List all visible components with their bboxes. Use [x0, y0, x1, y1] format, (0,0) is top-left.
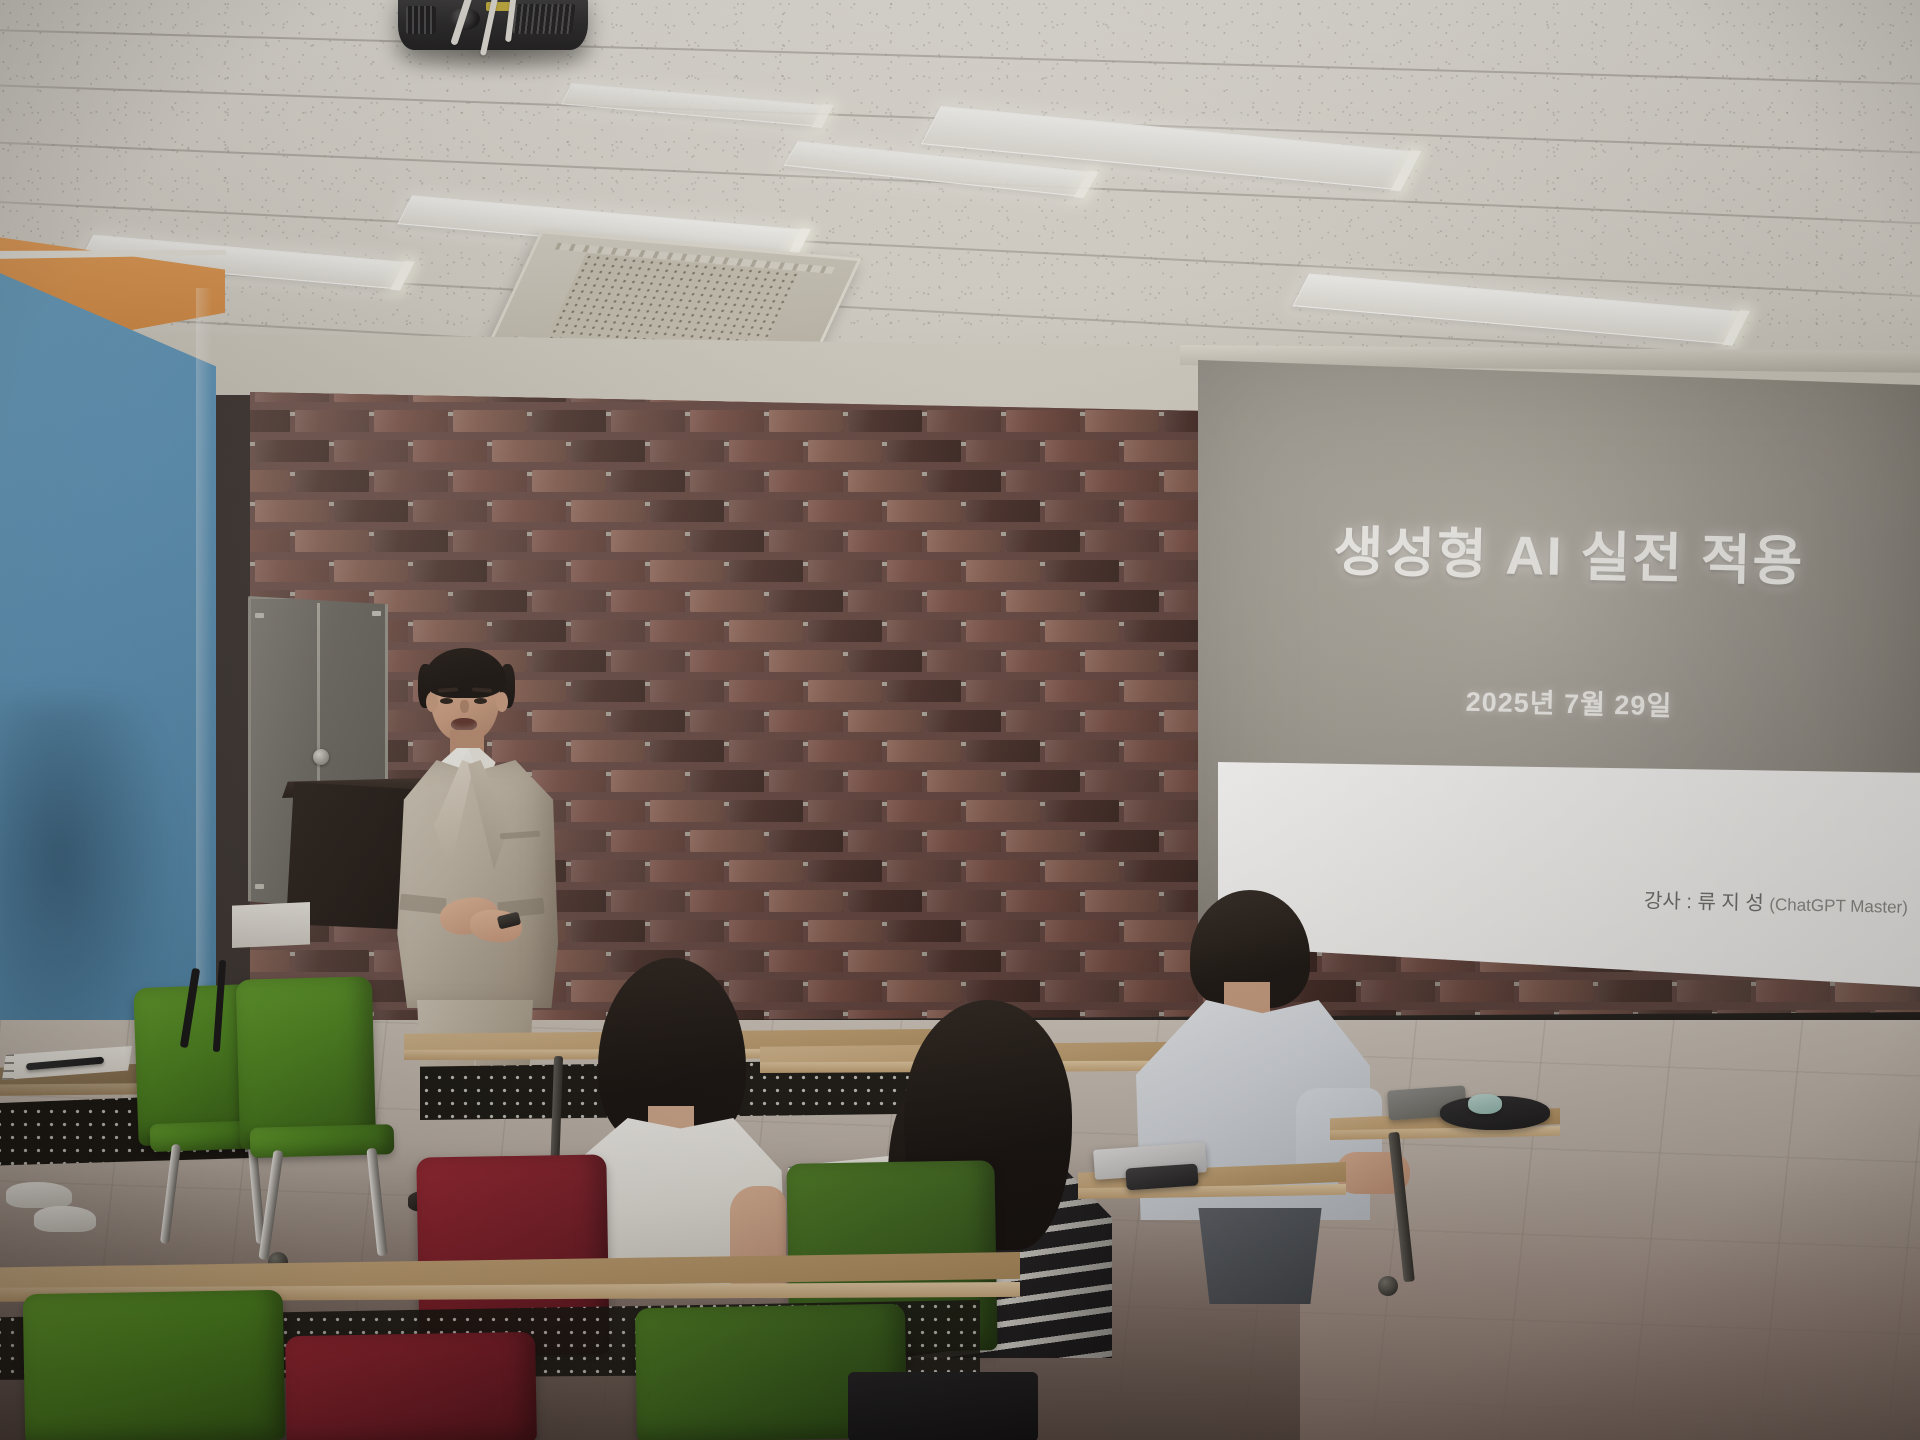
- lecture-room-photo: 생성형 AI 실전 적용 2025년 7월 29일 강사 : 류 지 성 (Ch…: [0, 0, 1920, 1440]
- slide-presenter-credit: 강사 : 류 지 성 (ChatGPT Master): [1644, 884, 1908, 919]
- equipment-box: [232, 902, 310, 948]
- sneaker: [34, 1206, 96, 1232]
- bag: [848, 1372, 1038, 1440]
- cup: [1468, 1094, 1502, 1114]
- chair-caster: [1378, 1276, 1398, 1296]
- sneaker: [6, 1182, 72, 1208]
- slide-presenter-title: (ChatGPT Master): [1769, 895, 1908, 917]
- presenter-jacket: [394, 760, 558, 1008]
- slide-presenter-name: 강사 : 류 지 성: [1644, 890, 1764, 915]
- slide-title: 생성형 AI 실전 적용: [1197, 504, 1920, 599]
- presenter-hair: [424, 648, 506, 698]
- attendee-3: [1150, 890, 1390, 1260]
- attendee-1: [580, 958, 790, 1258]
- attendee-3-trousers: [1190, 1208, 1330, 1304]
- presenter-person: [388, 648, 568, 1068]
- wall-edge-highlight: [196, 288, 212, 1088]
- cabinet-knob-icon[interactable]: [313, 749, 329, 765]
